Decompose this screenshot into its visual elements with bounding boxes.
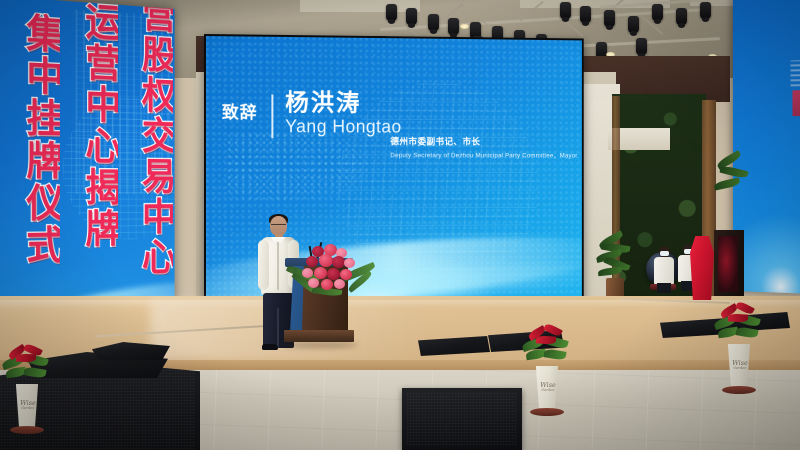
- plant-bract: [16, 354, 36, 363]
- foreground-speaker-box: [402, 388, 522, 450]
- screen-dotmap-graphic: [226, 132, 373, 204]
- divider-bar: [271, 94, 273, 138]
- flower-bloom: [344, 258, 355, 268]
- stage-spotlight-icon: [652, 4, 663, 21]
- stage-spotlight-icon: [406, 8, 417, 25]
- speaker-title-en: Deputy Secretary of Dezhou Municipal Par…: [390, 149, 577, 159]
- stage-spotlight-icon: [636, 38, 647, 55]
- stage-spotlight-icon: [560, 2, 571, 19]
- screenshot-root: 营股权交易中心 运营中心揭牌 集中挂牌仪式 致辞 杨洪涛 Yang Hongta…: [0, 0, 800, 450]
- potted-poinsettia: Wise Garden: [0, 338, 54, 434]
- flower-bloom: [334, 279, 345, 289]
- poinsettia-foliage: [0, 344, 54, 390]
- stage-spotlight-icon: [386, 4, 397, 21]
- plaque-panel: [718, 236, 738, 292]
- flower-bloom: [308, 278, 319, 288]
- person-shoe: [262, 344, 278, 350]
- stage-spotlight-icon: [448, 18, 459, 35]
- speaker-title-cn: 德州市委副书记、市长: [390, 135, 577, 148]
- plant-leaf: [735, 326, 758, 339]
- plant-leaf: [543, 348, 566, 361]
- stage-spotlight-icon: [604, 10, 615, 27]
- palm-frond: [713, 177, 740, 190]
- potted-palm: [596, 228, 636, 300]
- speaker-name-row: 致辞 杨洪涛 Yang Hongtao: [222, 90, 576, 139]
- downlight-icon: [460, 24, 469, 29]
- stage-spotlight-icon: [676, 8, 687, 25]
- stage-spotlight-icon: [580, 6, 591, 23]
- poinsettia-foliage: [520, 326, 574, 372]
- palm-pot: [606, 278, 624, 298]
- stage-spotlight-icon: [700, 2, 711, 19]
- backstage-attendant: [654, 246, 674, 292]
- ceiling-skylight: [300, 0, 420, 12]
- podium-base: [284, 330, 354, 342]
- planter-saucer: [722, 386, 756, 394]
- speaker-title-block: 德州市委副书记、市长 Deputy Secretary of Dezhou Mu…: [390, 135, 577, 160]
- flower-bloom: [314, 267, 327, 279]
- trouser-split: [277, 308, 279, 348]
- planter-label: Wise Garden: [730, 360, 750, 370]
- speaker-name-col: 杨洪涛 Yang Hongtao: [285, 91, 401, 138]
- flower-bloom: [319, 254, 333, 267]
- screen-text-block: 致辞 杨洪涛 Yang Hongtao 德州市委副书记、市长 Deputy Se…: [222, 90, 576, 139]
- poinsettia-foliage: [712, 304, 766, 350]
- speaker-name-en: Yang Hongtao: [285, 117, 401, 138]
- stage-spotlight-icon: [628, 16, 639, 33]
- right-panel-red-mark: [792, 90, 800, 116]
- stage-spotlight-icon: [428, 14, 439, 31]
- planter-saucer: [10, 426, 44, 434]
- right-panel-text-graphic: [791, 60, 800, 86]
- flower-arrangement: [296, 244, 372, 304]
- potted-palm: [712, 150, 756, 220]
- potted-poinsettia: Wise Garden: [520, 320, 574, 416]
- shirt-placket: [277, 242, 279, 290]
- flower-bloom: [321, 279, 333, 290]
- speaker-name-cn: 杨洪涛: [285, 91, 401, 117]
- plant-leaf: [23, 366, 46, 379]
- eyeglasses-icon: [271, 224, 286, 229]
- person-left-arm: [258, 240, 269, 290]
- flower-bloom: [302, 268, 313, 278]
- planter-label: Wise Garden: [18, 400, 38, 410]
- palm-frond: [598, 267, 623, 276]
- face-mask-icon: [660, 251, 669, 256]
- attendant-body: [654, 257, 674, 284]
- flower-bloom: [306, 256, 318, 267]
- screen-label-zhici: 致辞: [222, 90, 258, 123]
- attendant-legs: [657, 283, 671, 293]
- speaker-grill: [407, 392, 517, 445]
- planter-label: Wise Garden: [538, 382, 558, 392]
- flower-bloom: [340, 269, 352, 280]
- palm-frond: [719, 165, 748, 180]
- potted-poinsettia: Wise Garden: [712, 298, 766, 394]
- planter-saucer: [530, 408, 564, 416]
- red-drape-cover: [690, 236, 714, 300]
- podium-shadow: [282, 342, 358, 348]
